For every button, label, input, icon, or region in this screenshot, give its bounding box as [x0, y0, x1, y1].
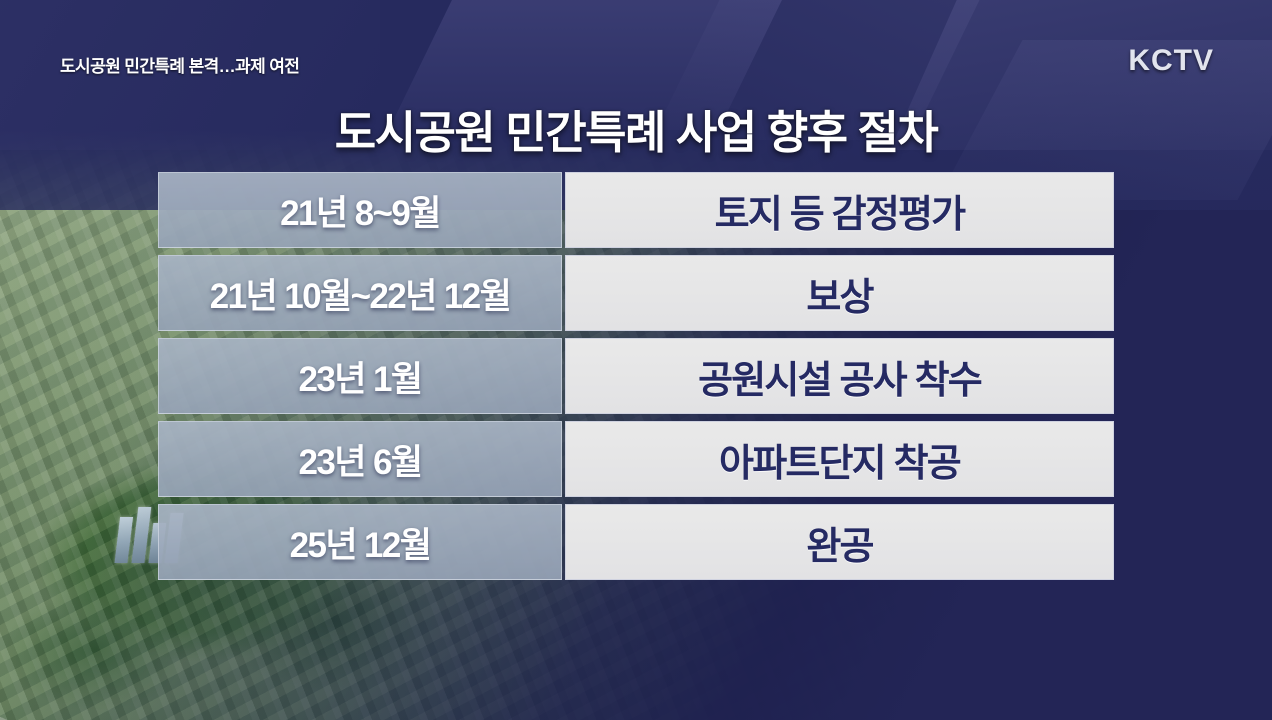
table-row: 21년 8~9월 토지 등 감정평가: [158, 172, 1114, 248]
step-cell: 공원시설 공사 착수: [565, 338, 1114, 414]
kctv-channel-logo: KCTV: [1128, 44, 1214, 78]
period-cell: 23년 6월: [158, 421, 562, 497]
step-cell: 아파트단지 착공: [565, 421, 1114, 497]
step-cell: 완공: [565, 504, 1114, 580]
period-cell: 23년 1월: [158, 338, 562, 414]
broadcast-graphic: 도시공원 민간특례 본격…과제 여전 KCTV 도시공원 민간특례 사업 향후 …: [0, 0, 1272, 720]
table-row: 25년 12월 완공: [158, 504, 1114, 580]
period-cell: 21년 8~9월: [158, 172, 562, 248]
table-row: 23년 6월 아파트단지 착공: [158, 421, 1114, 497]
table-row: 23년 1월 공원시설 공사 착수: [158, 338, 1114, 414]
page-title: 도시공원 민간특례 사업 향후 절차: [0, 96, 1272, 161]
step-cell: 보상: [565, 255, 1114, 331]
period-cell: 25년 12월: [158, 504, 562, 580]
news-kicker: 도시공원 민간특례 본격…과제 여전: [60, 52, 299, 77]
step-cell: 토지 등 감정평가: [565, 172, 1114, 248]
table-row: 21년 10월~22년 12월 보상: [158, 255, 1114, 331]
period-cell: 21년 10월~22년 12월: [158, 255, 562, 331]
schedule-table: 21년 8~9월 토지 등 감정평가 21년 10월~22년 12월 보상 23…: [158, 172, 1114, 587]
